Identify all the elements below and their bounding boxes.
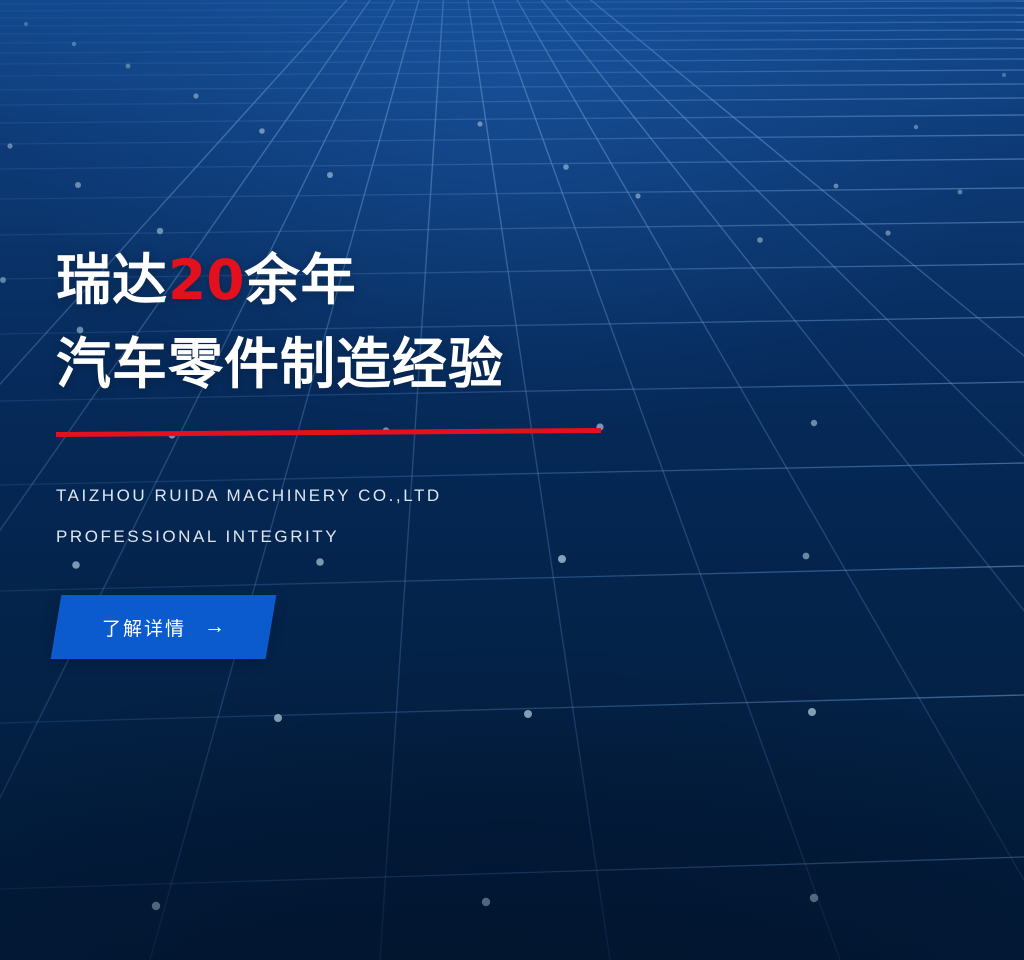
hero-banner: 瑞达20余年 汽车零件制造经验 TAIZHOU RUIDA MACHINERY … <box>0 0 1024 960</box>
tagline-company-name: TAIZHOU RUIDA MACHINERY CO.,LTD <box>56 475 756 516</box>
tagline-block: TAIZHOU RUIDA MACHINERY CO.,LTD PROFESSI… <box>56 475 756 557</box>
headline-line-2: 汽车零件制造经验 <box>56 322 756 406</box>
headline-line-1: 瑞达20余年 <box>56 238 756 322</box>
hero-content: 瑞达20余年 汽车零件制造经验 TAIZHOU RUIDA MACHINERY … <box>56 238 756 659</box>
red-divider <box>56 428 601 437</box>
headline-years-accent: 20 <box>168 248 245 312</box>
cta-wrapper: 了解详情 → <box>56 595 271 659</box>
headline-prefix: 瑞达 <box>56 248 168 312</box>
tagline-slogan: PROFESSIONAL INTEGRITY <box>56 516 756 557</box>
learn-more-button[interactable] <box>51 595 277 659</box>
headline-suffix: 余年 <box>245 248 357 312</box>
